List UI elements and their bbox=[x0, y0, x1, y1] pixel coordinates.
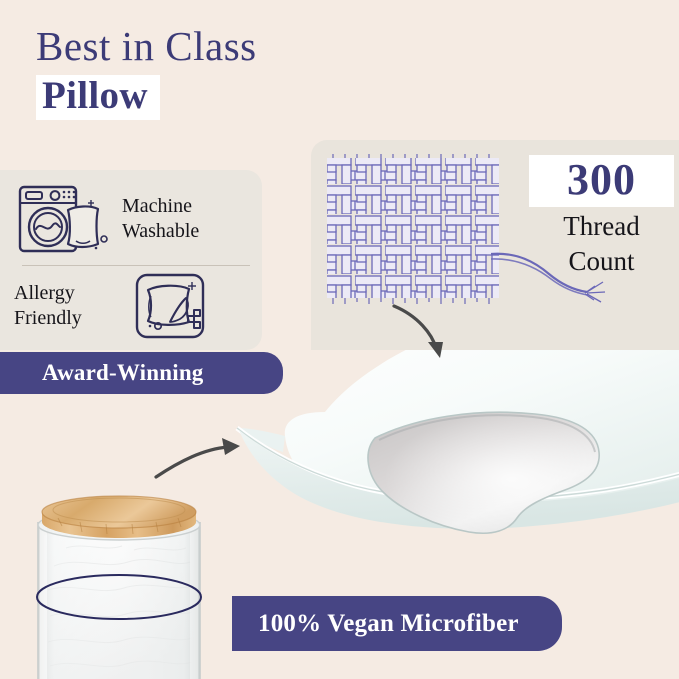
infographic-canvas: 300 Thread Count bbox=[0, 0, 679, 679]
feature-machine-washable-line2: Washable bbox=[122, 219, 199, 244]
title-highlight: Pillow bbox=[36, 75, 160, 120]
award-winning-label: Award-Winning bbox=[42, 360, 204, 386]
page-title: Best in Class Pillow bbox=[36, 24, 257, 120]
feature-allergy-friendly-line2: Friendly bbox=[14, 306, 134, 331]
vegan-microfiber-banner: 100% Vegan Microfiber bbox=[232, 596, 562, 651]
thread-count-text-block: 300 Thread Count bbox=[529, 155, 674, 277]
award-winning-banner: Award-Winning bbox=[0, 352, 283, 394]
title-line-2: Pillow bbox=[42, 74, 148, 117]
woven-fabric-swatch-icon bbox=[325, 154, 505, 304]
feature-allergy-friendly-line1: Allergy bbox=[14, 281, 134, 306]
feature-allergy-friendly: Allergy Friendly bbox=[14, 270, 262, 342]
curved-arrow-jar-to-pillow-icon bbox=[150, 425, 280, 495]
title-line-1: Best in Class bbox=[36, 24, 257, 68]
thread-count-number-highlight: 300 bbox=[529, 155, 674, 207]
features-card: Machine Washable Allergy Friendly bbox=[0, 170, 262, 350]
vegan-microfiber-label: 100% Vegan Microfiber bbox=[258, 610, 519, 638]
feature-allergy-friendly-label: Allergy Friendly bbox=[14, 281, 134, 331]
thread-count-label-line1: Thread bbox=[529, 211, 674, 242]
feature-machine-washable: Machine Washable bbox=[14, 180, 262, 258]
washing-machine-icon bbox=[14, 182, 110, 256]
thread-count-number: 300 bbox=[567, 155, 636, 204]
pillow-feather-plus-icon bbox=[134, 272, 206, 340]
thread-count-label-line2: Count bbox=[529, 246, 674, 277]
features-divider bbox=[22, 265, 250, 266]
curved-arrow-weave-to-pillow-icon bbox=[330, 290, 450, 380]
glass-jar-with-microfiber-fill-photo bbox=[18, 470, 253, 679]
feature-machine-washable-label: Machine Washable bbox=[122, 194, 199, 244]
feature-machine-washable-line1: Machine bbox=[122, 194, 199, 219]
